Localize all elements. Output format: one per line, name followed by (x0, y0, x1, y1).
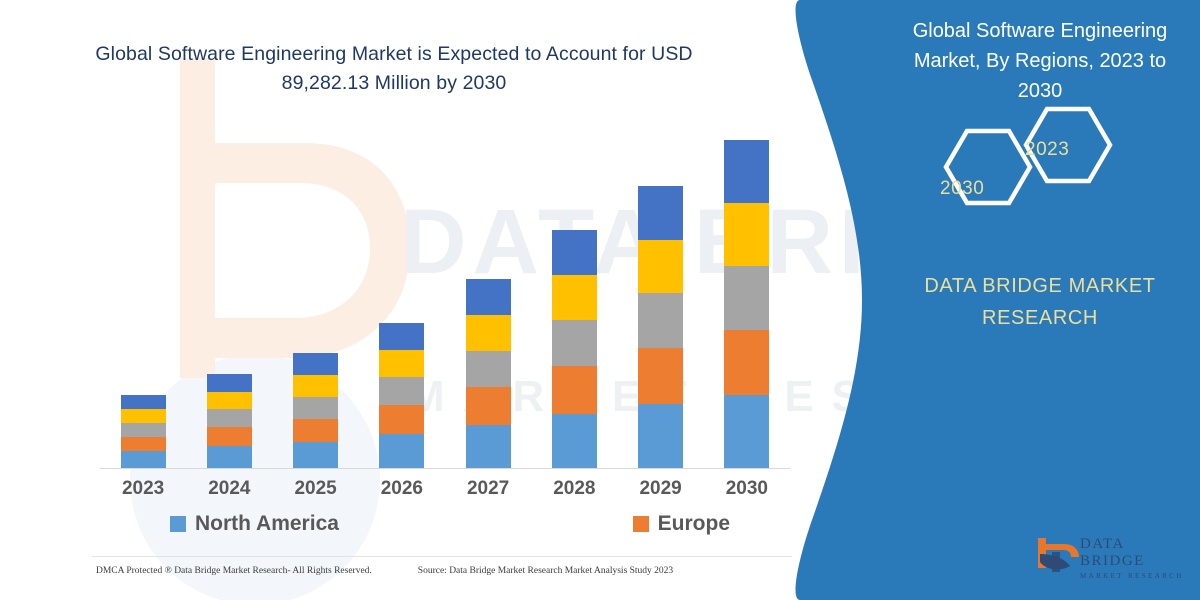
x-axis-labels: 20232024202520262027202820292030 (100, 478, 790, 500)
bar-column-2024 (207, 374, 252, 468)
bar-segment (121, 423, 166, 437)
bar-segment (293, 353, 338, 375)
bar-segment (207, 427, 252, 446)
panel-content: Global Software Engineering Market, By R… (880, 0, 1200, 600)
bar-column-2027 (466, 279, 511, 468)
x-axis-label-2027: 2027 (448, 478, 528, 500)
bar-segment (379, 323, 424, 349)
infographic-canvas: DATA BRIDGE MARKET RESEARCH Global Softw… (0, 0, 1200, 600)
x-axis-label-2024: 2024 (189, 478, 269, 500)
chart-legend: North AmericaEurope (170, 512, 730, 536)
bar-segment (207, 409, 252, 427)
footer-dmca-text: DMCA Protected ® Data Bridge Market Rese… (96, 566, 372, 576)
bar-segment (638, 293, 683, 347)
legend-label: Europe (658, 512, 730, 536)
bar-segment (466, 315, 511, 351)
hexagon-2023-label: 2023 (1025, 139, 1069, 161)
logo-line-2: MARKET RESEARCH (1080, 572, 1190, 580)
bar-segment (724, 266, 769, 330)
bar-segment (466, 351, 511, 388)
footer-source-text: Source: Data Bridge Market Research Mark… (418, 566, 673, 576)
data-bridge-logo: DATA BRIDGE MARKET RESEARCH (1030, 532, 1190, 576)
bar-segment (552, 366, 597, 413)
bar-segment (121, 437, 166, 452)
bar-segment (638, 348, 683, 405)
footer: DMCA Protected ® Data Bridge Market Rese… (96, 566, 796, 576)
bar-segment (379, 377, 424, 405)
bar-segment (121, 409, 166, 423)
bar-segment (552, 230, 597, 275)
bar-segment (121, 395, 166, 410)
x-axis-line (100, 468, 790, 469)
bar-segment (466, 387, 511, 425)
bar-segment (638, 186, 683, 239)
x-axis-label-2029: 2029 (621, 478, 701, 500)
data-bridge-logo-text: DATA BRIDGE MARKET RESEARCH (1080, 536, 1190, 580)
bar-chart-plot (100, 140, 790, 468)
chart-title: Global Software Engineering Market is Ex… (64, 40, 724, 99)
logo-line-1: DATA BRIDGE (1080, 536, 1190, 570)
x-axis-label-2025: 2025 (276, 478, 356, 500)
bar-segment (466, 425, 511, 468)
bar-segment (293, 375, 338, 397)
footer-divider (92, 556, 792, 557)
bar-segment (379, 405, 424, 434)
legend-swatch-icon (633, 516, 649, 532)
brand-name: DATA BRIDGE MARKET RESEARCH (890, 270, 1190, 334)
panel-title: Global Software Engineering Market, By R… (890, 16, 1190, 106)
bar-segment (724, 140, 769, 203)
x-axis-label-2026: 2026 (362, 478, 442, 500)
hexagon-2030-label: 2030 (940, 178, 984, 200)
bar-segment (466, 279, 511, 315)
legend-item-europe: Europe (633, 512, 730, 536)
bar-segment (724, 330, 769, 395)
bar-segment (293, 419, 338, 442)
hexagon-pair-icon (910, 105, 1170, 230)
x-axis-label-2023: 2023 (103, 478, 183, 500)
brand-line-2: RESEARCH (890, 302, 1190, 334)
bar-segment (552, 414, 597, 468)
bar-segment (552, 275, 597, 320)
bar-column-2025 (293, 353, 338, 468)
bar-segment (207, 392, 252, 410)
bar-column-2026 (379, 323, 424, 468)
bar-segment (638, 404, 683, 468)
bar-segment (724, 395, 769, 468)
bar-segment (724, 203, 769, 266)
bar-column-2028 (552, 230, 597, 468)
bar-column-2029 (638, 186, 683, 468)
bar-column-2030 (724, 140, 769, 468)
x-axis-label-2030: 2030 (707, 478, 787, 500)
bar-segment (379, 350, 424, 377)
bar-segment (207, 374, 252, 392)
bar-segment (293, 442, 338, 468)
bar-column-2023 (121, 395, 166, 468)
legend-swatch-icon (170, 516, 186, 532)
bar-segment (379, 434, 424, 468)
bar-segment (121, 451, 166, 468)
bar-segment (552, 320, 597, 366)
bar-segment (293, 397, 338, 419)
legend-label: North America (195, 512, 339, 536)
bar-segment (638, 240, 683, 293)
legend-item-north-america: North America (170, 512, 339, 536)
brand-line-1: DATA BRIDGE MARKET (890, 270, 1190, 302)
x-axis-label-2028: 2028 (534, 478, 614, 500)
bar-segment (207, 446, 252, 468)
